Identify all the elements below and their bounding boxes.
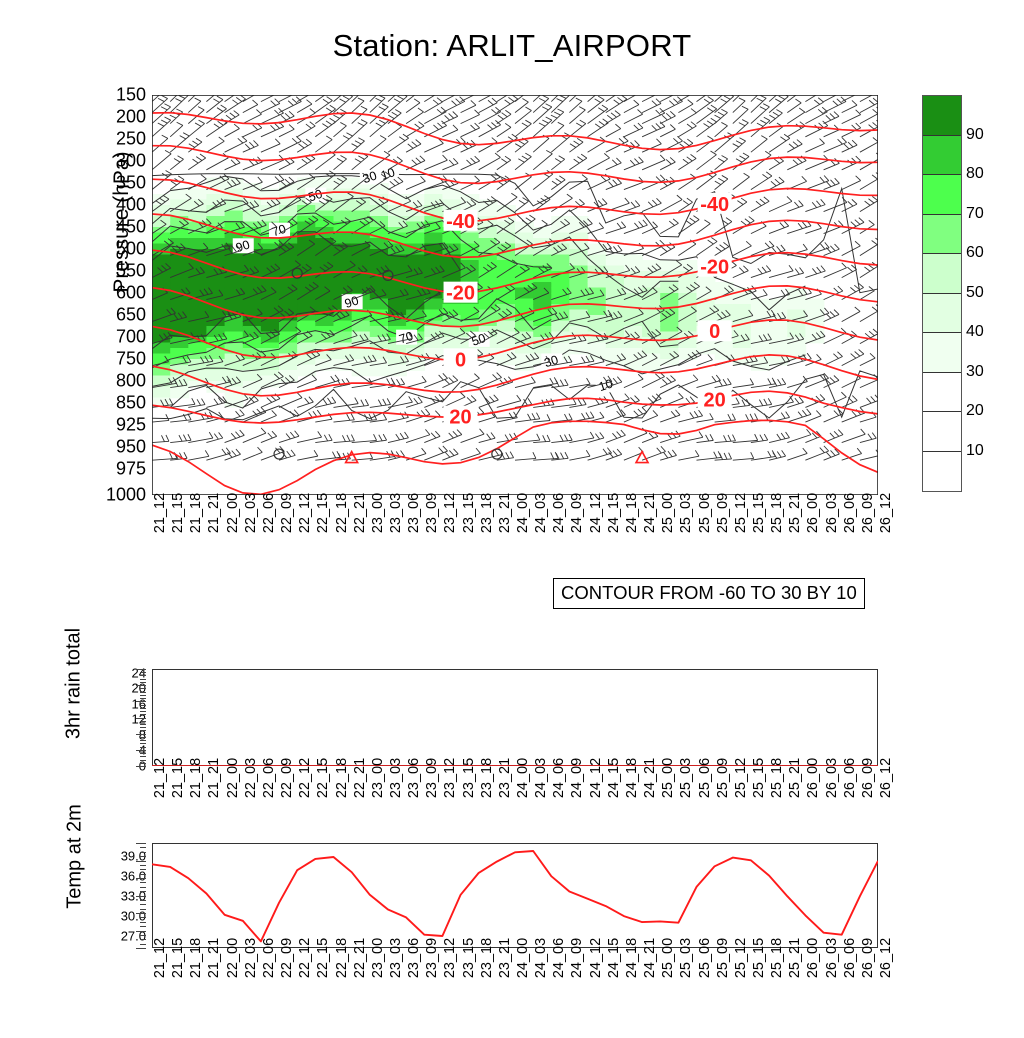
- shading-cell: [424, 260, 443, 266]
- shading-cell: [225, 304, 244, 310]
- axis-tick: [140, 856, 146, 857]
- temp-x-tick: 26_12: [878, 938, 894, 978]
- axis-tick: [140, 935, 146, 936]
- colorbar-tick: 40: [966, 323, 984, 341]
- colorbar-tick: 30: [966, 363, 984, 381]
- shading-cell: [188, 277, 207, 283]
- shading-cell: [406, 293, 425, 299]
- shading-cell: [660, 299, 679, 305]
- shading-cell: [152, 376, 171, 382]
- contour-info-box: CONTOUR FROM -60 TO 30 BY 10: [553, 578, 865, 609]
- shading-cell: [315, 205, 334, 211]
- axis-tick: [140, 695, 146, 696]
- shading-cell: [225, 326, 244, 332]
- shading-cell: [206, 211, 225, 217]
- shading-cell: [225, 255, 244, 261]
- shading-cell: [352, 255, 371, 261]
- shading-cell: [279, 255, 298, 261]
- shading-cell: [188, 194, 207, 200]
- shading-cell: [533, 321, 552, 327]
- axis-tick: [140, 874, 146, 875]
- shading-cell: [461, 233, 480, 239]
- axis-tick: [136, 878, 146, 879]
- axis-tick: [140, 882, 146, 883]
- shading-cell: [424, 326, 443, 332]
- shading-cell: [787, 343, 806, 349]
- axis-tick: [136, 701, 146, 702]
- shading-cell: [733, 348, 752, 354]
- shading-cell: [279, 343, 298, 349]
- cross-section-plot[interactable]: 10103030505070709090-40-40-20-20002020: [152, 95, 878, 495]
- shading-cell: [152, 343, 171, 349]
- axis-tick: [136, 750, 146, 751]
- shading-cell: [406, 238, 425, 244]
- axis-tick: [140, 763, 146, 764]
- shading-cell: [406, 348, 425, 354]
- axis-tick: [140, 672, 146, 673]
- shading-cell: [188, 282, 207, 288]
- isotherm-label: 0: [709, 321, 720, 343]
- shading-cell: [569, 293, 588, 299]
- shading-cell: [152, 321, 171, 327]
- shading-cell: [188, 304, 207, 310]
- shading-cell: [424, 277, 443, 283]
- shading-cell: [479, 233, 498, 239]
- shading-cell: [206, 376, 225, 382]
- shading-cell: [497, 321, 516, 327]
- axis-tick: [140, 698, 146, 699]
- shading-cell: [624, 282, 643, 288]
- shading-cell: [315, 354, 334, 360]
- shading-cell: [388, 293, 407, 299]
- shading-cell: [751, 326, 770, 332]
- shading-cell: [733, 299, 752, 305]
- shading-cell: [334, 359, 353, 365]
- shading-cell: [370, 354, 389, 360]
- shading-cell: [515, 249, 534, 255]
- axis-tick: [140, 682, 146, 683]
- main-y-tick: 1000: [100, 485, 146, 506]
- shading-cell: [279, 321, 298, 327]
- shading-cell: [261, 255, 280, 261]
- main-y-tick: 850: [100, 393, 146, 414]
- shading-cell: [388, 304, 407, 310]
- shading-cell: [206, 233, 225, 239]
- isotherm-label: -20: [700, 257, 729, 279]
- shading-cell: [606, 321, 625, 327]
- shading-cell: [206, 194, 225, 200]
- temp-y-tick: 39.0: [96, 849, 146, 864]
- shading-cell: [206, 370, 225, 376]
- shading-cell: [515, 255, 534, 261]
- shading-cell: [660, 354, 679, 360]
- shading-cell: [588, 321, 607, 327]
- shading-cell: [225, 343, 244, 349]
- shading-cell: [787, 310, 806, 316]
- shading-cell: [297, 299, 316, 305]
- shading-cell: [188, 189, 207, 195]
- shading-cell: [170, 343, 189, 349]
- shading-cell: [769, 321, 788, 327]
- shading-cell: [206, 282, 225, 288]
- axis-tick: [140, 760, 146, 761]
- temp-y-tick: 30.0: [96, 909, 146, 924]
- axis-tick: [140, 675, 146, 676]
- shading-cell: [624, 343, 643, 349]
- shading-cell: [188, 310, 207, 316]
- axis-tick: [140, 891, 146, 892]
- shading-cell: [315, 304, 334, 310]
- shading-cell: [769, 326, 788, 332]
- shading-cell: [424, 304, 443, 310]
- shading-cell: [334, 205, 353, 211]
- shading-cell: [733, 343, 752, 349]
- shading-cell: [533, 233, 552, 239]
- shading-cell: [352, 326, 371, 332]
- shading-cell: [334, 321, 353, 327]
- shading-cell: [442, 260, 461, 266]
- shading-cell: [388, 288, 407, 294]
- axis-tick: [136, 913, 146, 914]
- shading-cell: [533, 255, 552, 261]
- shading-cell: [678, 348, 697, 354]
- shading-cell: [206, 326, 225, 332]
- shading-cell: [334, 255, 353, 261]
- temp-y-axis: 27.030.033.036.039.0: [90, 843, 146, 948]
- isotherm-label: 20: [449, 407, 471, 429]
- shading-cell: [533, 348, 552, 354]
- shading-cell: [261, 321, 280, 327]
- shading-cell: [660, 288, 679, 294]
- page-title: Station: ARLIT_AIRPORT: [0, 28, 1024, 64]
- shading-cell: [225, 332, 244, 338]
- axis-tick: [140, 922, 146, 923]
- axis-tick: [140, 926, 146, 927]
- shading-cell: [787, 299, 806, 305]
- shading-cell: [388, 260, 407, 266]
- axis-tick: [140, 887, 146, 888]
- shading-cell: [352, 321, 371, 327]
- shading-cell: [769, 332, 788, 338]
- shading-cell: [787, 326, 806, 332]
- axis-tick: [136, 685, 146, 686]
- shading-cell: [206, 354, 225, 360]
- axis-tick: [140, 711, 146, 712]
- axis-tick: [140, 847, 146, 848]
- shading-cell: [624, 321, 643, 327]
- shading-cell: [243, 255, 262, 261]
- time-height-cross-section[interactable]: 10103030505070709090-40-40-20-20002020: [152, 95, 878, 495]
- shading-cell: [261, 189, 280, 195]
- shading-cell: [152, 348, 171, 354]
- shading-cell: [624, 260, 643, 266]
- shading-cell: [225, 282, 244, 288]
- temp-series: [152, 843, 878, 948]
- shading-cell: [569, 277, 588, 283]
- shading-cell: [442, 238, 461, 244]
- axis-tick: [140, 743, 146, 744]
- shading-cell: [261, 343, 280, 349]
- rain-x-tick: 26_12: [878, 758, 894, 798]
- shading-cell: [697, 343, 716, 349]
- shading-cell: [479, 211, 498, 217]
- shading-cell: [225, 299, 244, 305]
- shading-cell: [569, 310, 588, 316]
- shading-cell: [297, 249, 316, 255]
- shading-cell: [243, 216, 262, 222]
- shading-cell: [660, 266, 679, 272]
- shading-cell: [751, 348, 770, 354]
- shading-cell: [606, 255, 625, 261]
- shading-cell: [551, 255, 570, 261]
- shading-cell: [352, 205, 371, 211]
- shading-cell: [352, 277, 371, 283]
- shading-cell: [152, 277, 171, 283]
- shading-cell: [497, 227, 516, 233]
- shading-cell: [805, 304, 824, 310]
- axis-tick: [140, 679, 146, 680]
- shading-cell: [424, 299, 443, 305]
- shading-cell: [388, 354, 407, 360]
- shading-cell: [261, 238, 280, 244]
- shading-cell: [442, 332, 461, 338]
- shading-cell: [569, 288, 588, 294]
- shading-cell: [606, 348, 625, 354]
- shading-cell: [569, 233, 588, 239]
- shading-cell: [152, 299, 171, 305]
- shading-cell: [569, 238, 588, 244]
- temp-y-axis-label: Temp at 2m: [64, 762, 87, 952]
- isotherm-label: -40: [700, 194, 729, 216]
- shading-cell: [334, 233, 353, 239]
- isotherm-label: -20: [446, 283, 475, 305]
- shading-cell: [170, 277, 189, 283]
- shading-cell: [152, 392, 171, 398]
- shading-cell: [479, 244, 498, 250]
- shading-cell: [406, 216, 425, 222]
- colorbar-tick: 90: [966, 126, 984, 144]
- shading-cell: [551, 277, 570, 283]
- main-y-tick: 950: [100, 437, 146, 458]
- shading-cell: [279, 365, 298, 371]
- axis-tick: [136, 843, 146, 844]
- shading-cell: [170, 299, 189, 305]
- main-y-tick: 800: [100, 371, 146, 392]
- shading-cell: [261, 299, 280, 305]
- shading-cell: [170, 315, 189, 321]
- axis-tick: [140, 944, 146, 945]
- shading-cell: [170, 348, 189, 354]
- shading-cell: [315, 321, 334, 327]
- axis-tick: [140, 714, 146, 715]
- main-y-tick: 975: [100, 459, 146, 480]
- axis-tick: [140, 753, 146, 754]
- shading-cell: [624, 348, 643, 354]
- temp-x-axis-labels: 21_1221_1521_1821_2122_0022_0322_0622_09…: [152, 958, 878, 1033]
- axis-tick: [140, 708, 146, 709]
- shading-cell: [243, 260, 262, 266]
- shading-cell: [279, 299, 298, 305]
- shading-cell: [334, 260, 353, 266]
- shading-cell: [370, 189, 389, 195]
- shading-cell: [424, 194, 443, 200]
- shading-cell: [588, 310, 607, 316]
- shading-cell: [787, 348, 806, 354]
- shading-cell: [497, 205, 516, 211]
- rain-series: [152, 669, 878, 766]
- shading-cell: [352, 370, 371, 376]
- shading-cell: [152, 370, 171, 376]
- shading-cell: [442, 343, 461, 349]
- axis-tick: [140, 692, 146, 693]
- shading-cell: [588, 277, 607, 283]
- axis-tick: [140, 688, 146, 689]
- shading-cell: [715, 354, 734, 360]
- shading-cell: [206, 277, 225, 283]
- shading-cell: [551, 315, 570, 321]
- shading-cell: [206, 238, 225, 244]
- shading-cell: [497, 271, 516, 277]
- axis-tick: [140, 727, 146, 728]
- shading-cell: [678, 266, 697, 272]
- shading-cell: [551, 321, 570, 327]
- axis-tick: [136, 734, 146, 735]
- shading-cell: [170, 282, 189, 288]
- shading-cell: [424, 233, 443, 239]
- shading-cell: [787, 304, 806, 310]
- shading-cell: [352, 337, 371, 343]
- shading-cell: [315, 249, 334, 255]
- temp-y-tick: 36.0: [96, 869, 146, 884]
- shading-cell: [533, 227, 552, 233]
- shading-cell: [370, 282, 389, 288]
- shading-cell: [515, 348, 534, 354]
- shading-cell: [370, 370, 389, 376]
- shading-cell: [769, 348, 788, 354]
- isotherm-label: 0: [455, 350, 466, 372]
- shading-cell: [606, 343, 625, 349]
- colorbar-tick: 80: [966, 165, 984, 183]
- shading-cell: [334, 332, 353, 338]
- shading-cell: [334, 183, 353, 189]
- axis-tick: [140, 852, 146, 853]
- shading-cell: [733, 326, 752, 332]
- shading-cell: [370, 255, 389, 261]
- shading-cell: [261, 370, 280, 376]
- shading-cell: [188, 233, 207, 239]
- shading-cell: [206, 255, 225, 261]
- axis-tick: [140, 737, 146, 738]
- shading-cell: [225, 321, 244, 327]
- axis-tick: [140, 747, 146, 748]
- shading-cell: [678, 343, 697, 349]
- shading-cell: [297, 343, 316, 349]
- shading-cell: [424, 282, 443, 288]
- axis-tick: [136, 718, 146, 719]
- main-x-tick: 26_12: [878, 493, 894, 533]
- axis-tick: [140, 740, 146, 741]
- shading-cell: [243, 282, 262, 288]
- shading-cell: [697, 304, 716, 310]
- colorbar-tick: 50: [966, 284, 984, 302]
- axis-tick: [140, 756, 146, 757]
- shading-cell: [697, 288, 716, 294]
- shading-cell: [515, 299, 534, 305]
- axis-tick: [140, 730, 146, 731]
- shading-cell: [188, 238, 207, 244]
- axis-tick: [140, 900, 146, 901]
- shading-cell: [805, 299, 824, 305]
- shading-cell: [297, 205, 316, 211]
- shading-cell: [315, 277, 334, 283]
- shading-cell: [606, 260, 625, 266]
- axis-tick: [140, 705, 146, 706]
- rain-y-axis-label: 3hr rain total: [63, 594, 86, 774]
- colorbar-labels: 102030405060708090: [922, 95, 1012, 490]
- shading-cell: [315, 299, 334, 305]
- shading-cell: [188, 288, 207, 294]
- rain-y-axis: 04812162024: [96, 669, 146, 766]
- axis-tick: [136, 948, 146, 949]
- shading-cell: [515, 321, 534, 327]
- shading-cell: [787, 293, 806, 299]
- shading-cell: [206, 310, 225, 316]
- shading-cell: [442, 194, 461, 200]
- temp-2m-panel[interactable]: [152, 843, 878, 948]
- shading-cell: [678, 321, 697, 327]
- shading-cell: [606, 299, 625, 305]
- shading-cell: [152, 354, 171, 360]
- shading-cell: [334, 211, 353, 217]
- shading-cell: [261, 304, 280, 310]
- shading-cell: [588, 348, 607, 354]
- shading-cell: [225, 277, 244, 283]
- shading-cell: [370, 304, 389, 310]
- shading-cell: [225, 211, 244, 217]
- shading-cell: [551, 260, 570, 266]
- shading-cell: [715, 299, 734, 305]
- shading-cell: [225, 260, 244, 266]
- axis-tick: [140, 939, 146, 940]
- shading-cell: [406, 277, 425, 283]
- main-y-tick: 925: [100, 415, 146, 436]
- axis-tick: [140, 917, 146, 918]
- shading-cell: [678, 277, 697, 283]
- shading-cell: [388, 233, 407, 239]
- colorbar-tick: 70: [966, 205, 984, 223]
- shading-cell: [315, 288, 334, 294]
- shading-cell: [442, 304, 461, 310]
- shading-cell: [370, 211, 389, 217]
- shading-cell: [334, 277, 353, 283]
- shading-cell: [624, 255, 643, 261]
- shading-cell: [733, 304, 752, 310]
- shading-cell: [406, 260, 425, 266]
- shading-cell: [424, 343, 443, 349]
- colorbar-tick: 10: [966, 442, 984, 460]
- isotherm-label: 20: [704, 389, 726, 411]
- isotherm-label: -40: [446, 211, 475, 233]
- axis-tick: [136, 669, 146, 670]
- shading-cell: [660, 326, 679, 332]
- shading-cell: [497, 288, 516, 294]
- shading-cell: [551, 282, 570, 288]
- axis-tick: [140, 865, 146, 866]
- shading-cell: [352, 282, 371, 288]
- rain-total-panel[interactable]: [152, 669, 878, 766]
- shading-cell: [334, 354, 353, 360]
- shading-cell: [170, 200, 189, 206]
